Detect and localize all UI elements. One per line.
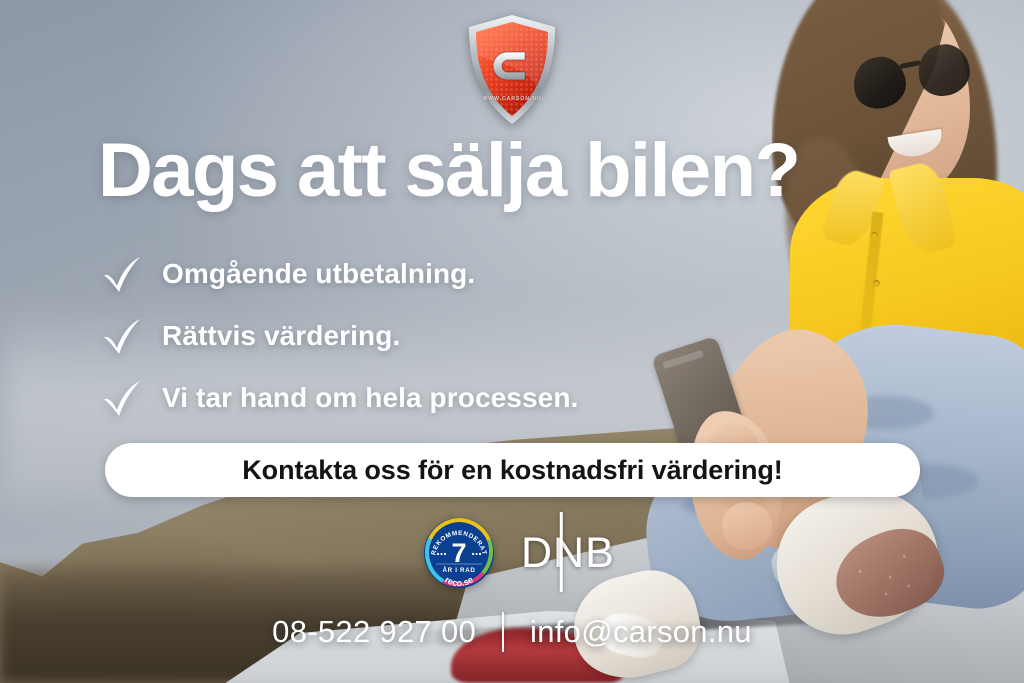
dnb-logo-text: DNB <box>521 529 615 577</box>
advertisement-banner: WWW.CARSON.NU Dags att sälja bilen? Omgå… <box>0 0 1024 683</box>
list-item: Rättvis värdering. <box>100 314 578 358</box>
benefits-list: Omgående utbetalning. Rättvis värdering.… <box>100 252 578 420</box>
logo-url-text: WWW.CARSON.NU <box>464 96 560 102</box>
dnb-logo[interactable]: DNB <box>521 522 601 584</box>
phone-number[interactable]: 08-522 927 00 <box>272 614 476 650</box>
partner-badges: REKOMMENDERAT 7 ÅR I RAD reco.se DNB <box>423 517 601 589</box>
list-item: Omgående utbetalning. <box>100 252 578 296</box>
check-icon <box>100 314 144 358</box>
list-item-label: Vi tar hand om hela processen. <box>162 382 578 414</box>
svg-text:7: 7 <box>451 538 466 568</box>
shield-icon <box>464 12 560 128</box>
cta-button-label: Kontakta oss för en kostnadsfri värderin… <box>242 455 782 486</box>
page-title: Dags att sälja bilen? <box>98 133 958 209</box>
carson-shield-logo[interactable]: WWW.CARSON.NU <box>464 12 560 128</box>
contact-footer: 08-522 927 00 info@carson.nu <box>0 612 1024 652</box>
ad-content-overlay: WWW.CARSON.NU Dags att sälja bilen? Omgå… <box>0 0 1024 683</box>
contact-divider <box>502 612 504 652</box>
reco-badge-icon: REKOMMENDERAT 7 ÅR I RAD reco.se <box>423 517 495 589</box>
list-item-label: Rättvis värdering. <box>162 320 400 352</box>
dnb-logo-bar <box>560 512 563 592</box>
reco-badge[interactable]: REKOMMENDERAT 7 ÅR I RAD reco.se <box>423 517 495 589</box>
svg-text:ÅR I RAD: ÅR I RAD <box>442 567 475 574</box>
email-address[interactable]: info@carson.nu <box>530 614 752 650</box>
list-item-label: Omgående utbetalning. <box>162 258 475 290</box>
check-icon <box>100 252 144 296</box>
list-item: Vi tar hand om hela processen. <box>100 376 578 420</box>
contact-cta-button[interactable]: Kontakta oss för en kostnadsfri värderin… <box>105 443 920 497</box>
check-icon <box>100 376 144 420</box>
